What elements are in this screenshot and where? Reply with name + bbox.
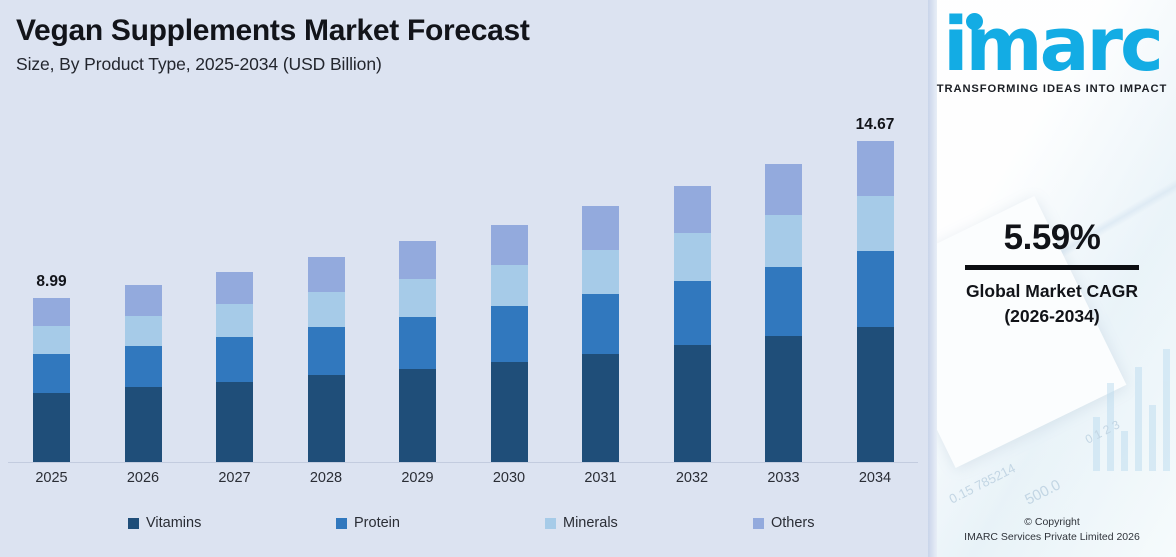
bar-segment-vitamins (308, 375, 345, 462)
legend-swatch-icon (336, 518, 347, 529)
x-tick-2028: 2028 (296, 470, 356, 486)
bar-segment-others (765, 164, 802, 215)
bar-segment-protein (216, 337, 253, 382)
x-tick-2025: 2025 (22, 470, 82, 486)
bar-segment-vitamins (33, 393, 70, 462)
bar-2033[interactable] (765, 164, 802, 462)
plot-area: 8.9914.67 (0, 110, 928, 463)
bar-segment-others (308, 257, 345, 292)
bar-segment-protein (491, 306, 528, 362)
bar-segment-protein (33, 354, 70, 392)
bar-value-label-2025: 8.99 (36, 273, 66, 291)
bar-segment-minerals (857, 196, 894, 251)
chart-subtitle: Size, By Product Type, 2025-2034 (USD Bi… (16, 54, 530, 75)
legend-swatch-icon (545, 518, 556, 529)
x-tick-2034: 2034 (845, 470, 905, 486)
bar-segment-protein (674, 281, 711, 346)
bar-segment-vitamins (216, 382, 253, 462)
copyright-notice: © Copyright IMARC Services Private Limit… (928, 515, 1176, 545)
x-tick-2030: 2030 (479, 470, 539, 486)
bar-segment-vitamins (125, 387, 162, 462)
legend-item-protein[interactable]: Protein (336, 515, 400, 531)
bar-2027[interactable] (216, 272, 253, 462)
x-tick-2033: 2033 (754, 470, 814, 486)
bar-segment-protein (582, 294, 619, 354)
legend-swatch-icon (128, 518, 139, 529)
bar-segment-vitamins (491, 362, 528, 462)
bar-segment-others (399, 241, 436, 279)
bar-segment-vitamins (674, 345, 711, 462)
x-axis: 2025202620272028202920302031203220332034 (0, 464, 928, 494)
legend-label: Others (771, 515, 815, 531)
bar-segment-protein (765, 267, 802, 337)
bar-segment-vitamins (765, 336, 802, 462)
bar-segment-others (125, 285, 162, 315)
chart-legend: VitaminsProteinMineralsOthers (0, 515, 928, 549)
legend-label: Protein (354, 515, 400, 531)
bar-segment-vitamins (857, 327, 894, 463)
logo-dot-icon (966, 13, 983, 30)
legend-item-others[interactable]: Others (753, 515, 815, 531)
bar-segment-others (33, 298, 70, 326)
bar-value-label-2034: 14.67 (856, 116, 895, 134)
bar-2034[interactable]: 14.67 (857, 141, 894, 462)
bar-2032[interactable] (674, 186, 711, 462)
bar-2029[interactable] (399, 241, 436, 462)
x-tick-2032: 2032 (662, 470, 722, 486)
legend-swatch-icon (753, 518, 764, 529)
bar-segment-others (216, 272, 253, 305)
bar-segment-others (674, 186, 711, 233)
copyright-line2: IMARC Services Private Limited 2026 (928, 530, 1176, 545)
bar-2030[interactable] (491, 225, 528, 462)
legend-label: Minerals (563, 515, 618, 531)
bar-segment-minerals (308, 292, 345, 327)
bar-segment-others (857, 141, 894, 196)
bar-segment-vitamins (399, 369, 436, 462)
bar-segment-minerals (399, 279, 436, 317)
chart-infographic: Vegan Supplements Market Forecast Size, … (0, 0, 1176, 557)
x-tick-2029: 2029 (388, 470, 448, 486)
bar-segment-protein (399, 317, 436, 369)
bar-segment-minerals (765, 215, 802, 266)
bar-segment-minerals (216, 304, 253, 337)
brand-pane: 500.0 0.15 785214 0 1 2 3 imarc TRANSFOR… (928, 0, 1176, 557)
copyright-line1: © Copyright (928, 515, 1176, 530)
bar-segment-others (491, 225, 528, 266)
legend-label: Vitamins (146, 515, 201, 531)
page-title: Vegan Supplements Market Forecast (16, 14, 530, 47)
chart-pane: Vegan Supplements Market Forecast Size, … (0, 0, 928, 557)
cagr-label-line2: (2026-2034) (928, 304, 1176, 329)
bar-segment-vitamins (582, 354, 619, 462)
cagr-label-line1: Global Market CAGR (928, 279, 1176, 304)
bar-segment-minerals (674, 233, 711, 280)
x-tick-2027: 2027 (205, 470, 265, 486)
bar-2026[interactable] (125, 285, 162, 462)
bar-segment-protein (857, 251, 894, 326)
bar-2028[interactable] (308, 257, 345, 462)
bar-segment-minerals (491, 265, 528, 306)
bar-segment-protein (308, 327, 345, 375)
bar-segment-minerals (125, 316, 162, 346)
bar-segment-others (582, 206, 619, 250)
x-tick-2031: 2031 (571, 470, 631, 486)
legend-item-vitamins[interactable]: Vitamins (128, 515, 201, 531)
bar-segment-minerals (33, 326, 70, 354)
cagr-divider (965, 265, 1139, 270)
bar-2025[interactable]: 8.99 (33, 298, 70, 462)
cagr-block: 5.59% Global Market CAGR (2026-2034) (928, 218, 1176, 330)
legend-item-minerals[interactable]: Minerals (545, 515, 618, 531)
bar-2031[interactable] (582, 206, 619, 462)
bar-segment-protein (125, 346, 162, 387)
chart-header: Vegan Supplements Market Forecast Size, … (16, 14, 530, 75)
background-bar-art (1093, 349, 1170, 471)
axis-baseline (8, 462, 918, 463)
imarc-logo: imarc TRANSFORMING IDEAS INTO IMPACT (928, 10, 1176, 95)
cagr-value: 5.59% (928, 218, 1176, 258)
bar-segment-minerals (582, 250, 619, 294)
x-tick-2026: 2026 (113, 470, 173, 486)
